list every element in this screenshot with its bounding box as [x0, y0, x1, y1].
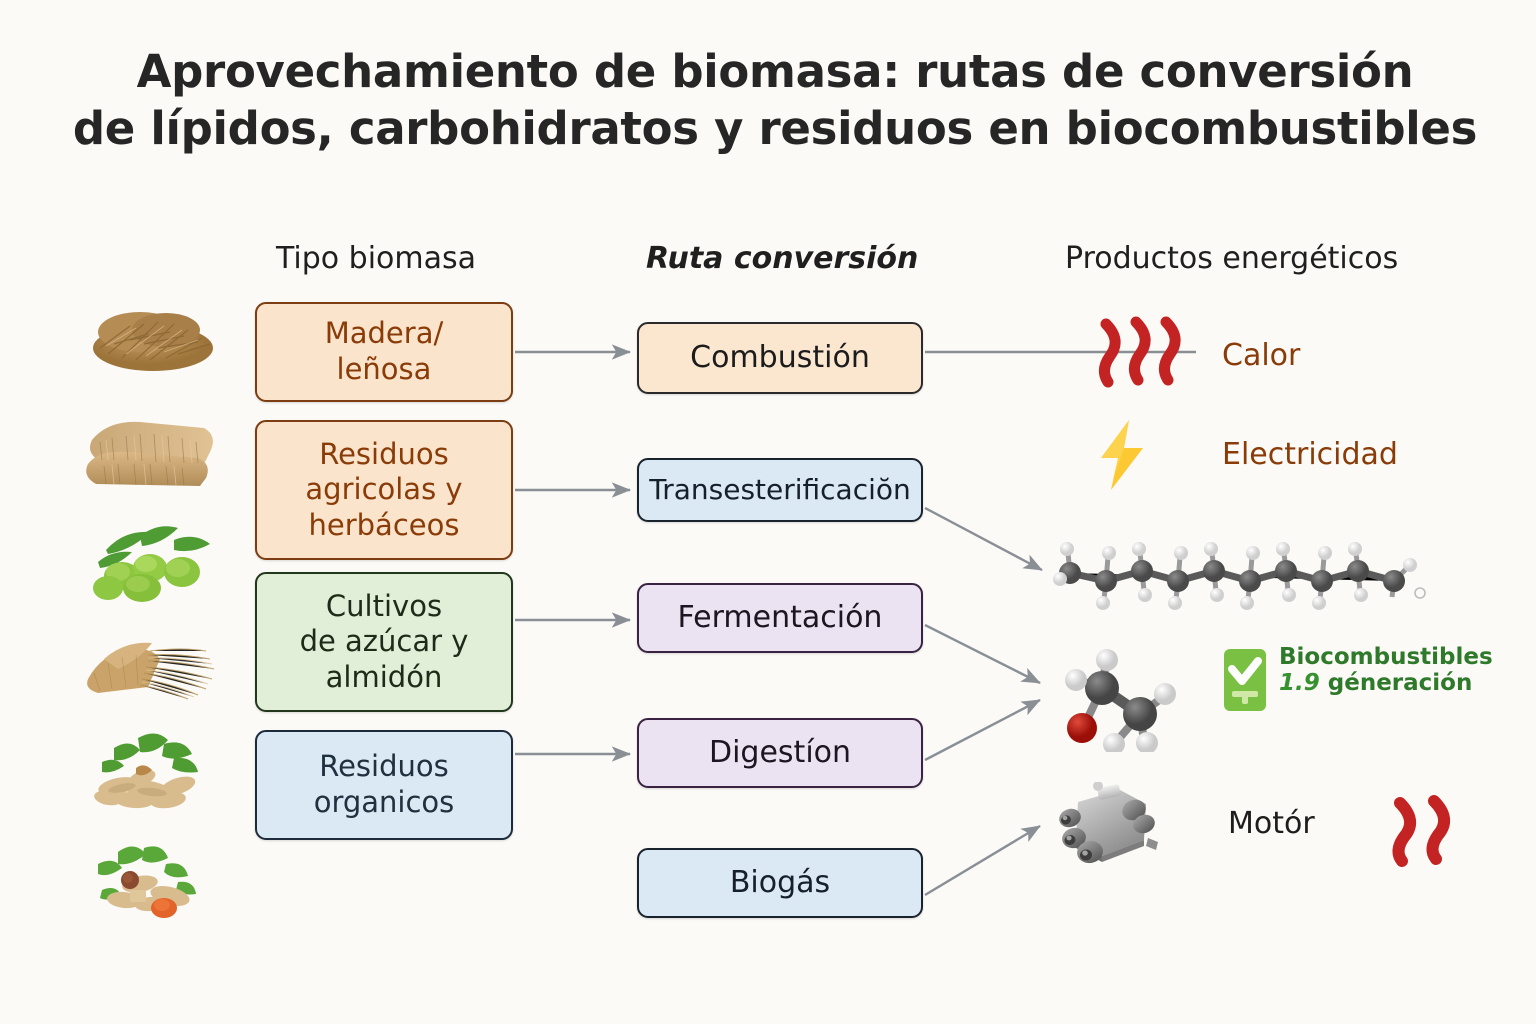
route-combustion-label: Combustión [690, 340, 870, 377]
biomass-agricolas-line1: Residuos [305, 437, 462, 473]
biomass-organicos-line1: Residuos [314, 749, 455, 785]
arrow-biogas-to-engine [925, 826, 1040, 895]
route-node-fermentacion[interactable]: Fermentación [637, 583, 923, 653]
biomass-cultivos-line2: de azúcar y [300, 624, 469, 660]
route-biogas-label: Biogás [730, 865, 830, 902]
biomass-agricolas-line3: herbáceos [305, 508, 462, 544]
biomass-agricolas-line2: agricolas y [305, 472, 462, 508]
lightning-bolt-icon [1093, 418, 1153, 492]
route-node-transesterificacion[interactable]: Transesterificaciŏn [637, 458, 923, 522]
route-digestion-label: Digestíon [709, 735, 851, 772]
ethanol-molecule-icon [1048, 640, 1198, 752]
route-node-biogas[interactable]: Biogás [637, 848, 923, 918]
route-node-digestion[interactable]: Digestíon [637, 718, 923, 788]
biomass-organicos-line2: organicos [314, 785, 455, 821]
engine-icon [1048, 782, 1164, 874]
diagram-canvas: Aprovechamiento de biomasa: rutas de con… [0, 0, 1536, 1024]
biomass-madera-line1: Madera/ [325, 316, 444, 352]
product-label-calor: Calor [1222, 338, 1300, 373]
route-fermentacion-label: Fermentación [678, 600, 883, 637]
route-node-combustion[interactable]: Combustión [637, 322, 923, 394]
biofuel-line1: Biocombustibles [1279, 645, 1493, 671]
biofuel-line2: 1.9 géneración [1279, 671, 1493, 697]
heat-waves-icon-motor [1384, 791, 1456, 871]
hydrocarbon-molecule-icon [1048, 527, 1448, 617]
biofuel-text-block: Biocombustibles 1.9 géneración [1279, 645, 1493, 697]
route-transester-label: Transesterificaciŏn [649, 473, 911, 507]
biomass-node-madera[interactable]: Madera/ leñosa [255, 302, 513, 402]
biomass-cultivos-line3: almidón [300, 660, 469, 696]
heat-waves-icon [1092, 314, 1184, 392]
arrow-transester-to-hydrocarbon [925, 508, 1042, 570]
biomass-cultivos-line1: Cultivos [300, 589, 469, 625]
biomass-node-organicos[interactable]: Residuos organicos [255, 730, 513, 840]
product-label-motor: Motór [1228, 806, 1315, 841]
product-label-electricidad: Electricidad [1222, 437, 1398, 472]
biofuel-generation-word: géneración [1328, 670, 1473, 696]
biofuel-generation-number: 1.9 [1279, 670, 1320, 696]
arrow-digestion-to-ethanol [925, 700, 1040, 760]
biomass-node-cultivos[interactable]: Cultivos de azúcar y almidón [255, 572, 513, 712]
biomass-node-agricolas[interactable]: Residuos agricolas y herbáceos [255, 420, 513, 560]
arrow-fermentacion-to-ethanol [925, 625, 1040, 683]
product-label-biocombustibles: Biocombustibles 1.9 géneración [1222, 645, 1493, 697]
biomass-madera-line2: leñosa [325, 352, 444, 388]
